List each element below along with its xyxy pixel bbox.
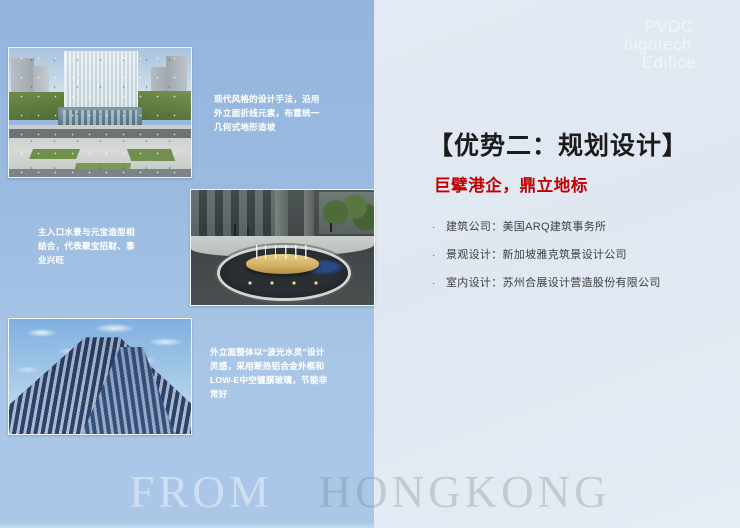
caption-facade-design: 外立面整体以“波光水灵”设计灵感，采用断热铝合金外框和LOW-E中空镀膜玻璃，节… — [210, 346, 332, 402]
fountain-water-jets — [251, 245, 313, 259]
plaza-people-and-lamps — [9, 48, 191, 177]
photo-tower-glass-facade-upward — [8, 318, 192, 435]
corner-watermark-line-2: hightech — [584, 36, 732, 54]
bullet-marker-icon: · — [432, 250, 446, 261]
bullet-marker-icon: · — [432, 222, 446, 233]
photo-plaza-aerial-rendering — [8, 47, 192, 178]
slide-canvas: PVDC hightech Edifice — [0, 0, 740, 528]
corner-watermark: PVDC hightech Edifice — [606, 18, 732, 72]
tower-image-content — [9, 319, 191, 434]
list-item-label: 建筑公司：美国ARQ建筑事务所 — [446, 218, 606, 234]
page-title: 【优势二：规划设计】 — [428, 126, 718, 162]
bullet-marker-icon: · — [432, 278, 446, 289]
corner-watermark-line-1: PVDC — [606, 18, 732, 36]
photo-fountain-ingot-water-feature — [190, 189, 375, 306]
watermark-word-from: FROM — [129, 467, 273, 517]
watermark-space — [288, 467, 303, 517]
caption-plaza-design: 现代风格的设计手法，沿用外立面折线元素，布置统一几何式地形造坡 — [214, 93, 320, 135]
watermark-word-hongkong: HONGKONG — [319, 467, 611, 517]
list-item-label: 室内设计：苏州合展设计营造股份有限公司 — [446, 274, 661, 290]
page-subtitle: 巨擘港企，鼎立地标 — [434, 172, 588, 196]
fountain-pedestrians — [191, 220, 374, 245]
list-item: · 景观设计：新加坡雅克筑景设计公司 — [432, 246, 722, 262]
corner-watermark-line-3: Edifice — [606, 54, 732, 72]
list-item: · 建筑公司：美国ARQ建筑事务所 — [432, 218, 722, 234]
plaza-image-content — [9, 48, 191, 177]
list-item: · 室内设计：苏州合展设计营造股份有限公司 — [432, 274, 722, 290]
bottom-watermark: FROM HONGKONG — [0, 466, 740, 518]
fountain-image-content — [191, 190, 374, 305]
caption-water-feature: 主入口水景与元宝造型相结合，代表聚宝招财、事业兴旺 — [38, 226, 142, 268]
fountain-underwater-lights — [239, 277, 327, 286]
list-item-label: 景观设计：新加坡雅克筑景设计公司 — [446, 246, 627, 262]
design-team-list: · 建筑公司：美国ARQ建筑事务所 · 景观设计：新加坡雅克筑景设计公司 · 室… — [432, 218, 722, 302]
